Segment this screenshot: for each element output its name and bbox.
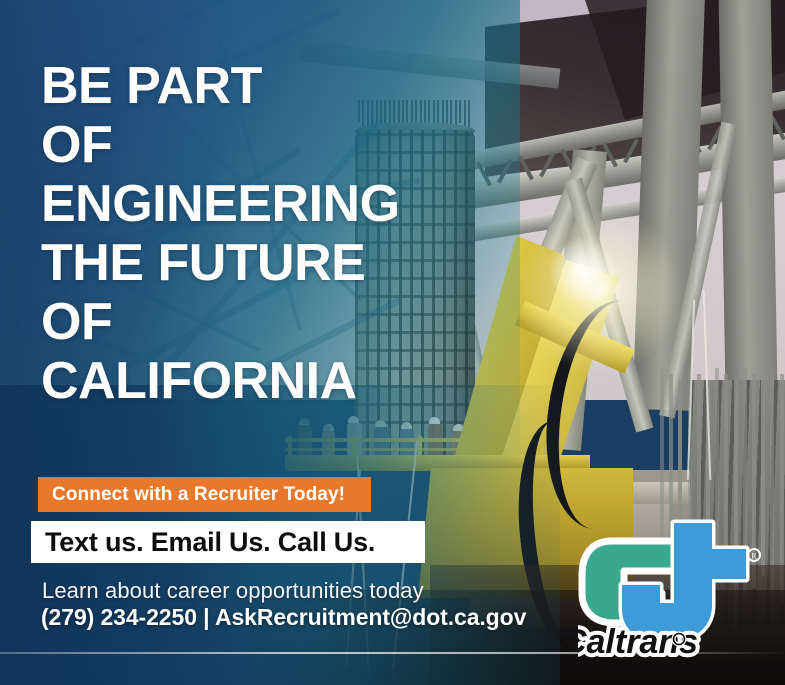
registered-trademark-icon: R — [748, 549, 760, 561]
recruiter-cta-banner[interactable]: Connect with a Recruiter Today! — [38, 477, 371, 512]
caltrans-logo[interactable]: R Caltrans Caltrans — [578, 519, 768, 659]
headline-line-1: BE PART — [41, 57, 481, 116]
ct-monogram-icon — [582, 523, 746, 639]
headline: BE PART OF ENGINEERING THE FUTURE OF CAL… — [41, 57, 481, 411]
headline-line-2: OF — [41, 116, 481, 175]
caltrans-logo-svg: R Caltrans Caltrans — [578, 519, 768, 659]
sun-flare-core — [548, 236, 618, 306]
contact-info[interactable]: (279) 234-2250 | AskRecruitment@dot.ca.g… — [41, 604, 526, 631]
steel-column — [718, 0, 777, 400]
contact-methods-label: Text us. Email Us. Call Us. — [31, 527, 375, 558]
recruitment-ad-banner: BE PART OF ENGINEERING THE FUTURE OF CAL… — [0, 0, 785, 685]
svg-text:Caltrans: Caltrans — [578, 623, 698, 659]
headline-line-3: ENGINEERING — [41, 175, 481, 234]
caltrans-wordmark: Caltrans Caltrans — [578, 623, 698, 659]
headline-line-4: THE FUTURE — [41, 234, 481, 293]
contact-methods-box: Text us. Email Us. Call Us. — [31, 521, 425, 563]
learn-more-text: Learn about career opportunities today — [42, 578, 424, 604]
recruiter-cta-label: Connect with a Recruiter Today! — [38, 484, 345, 506]
headline-line-6: CALIFORNIA — [41, 352, 481, 411]
headline-line-5: OF — [41, 293, 481, 352]
svg-text:R: R — [751, 552, 757, 561]
